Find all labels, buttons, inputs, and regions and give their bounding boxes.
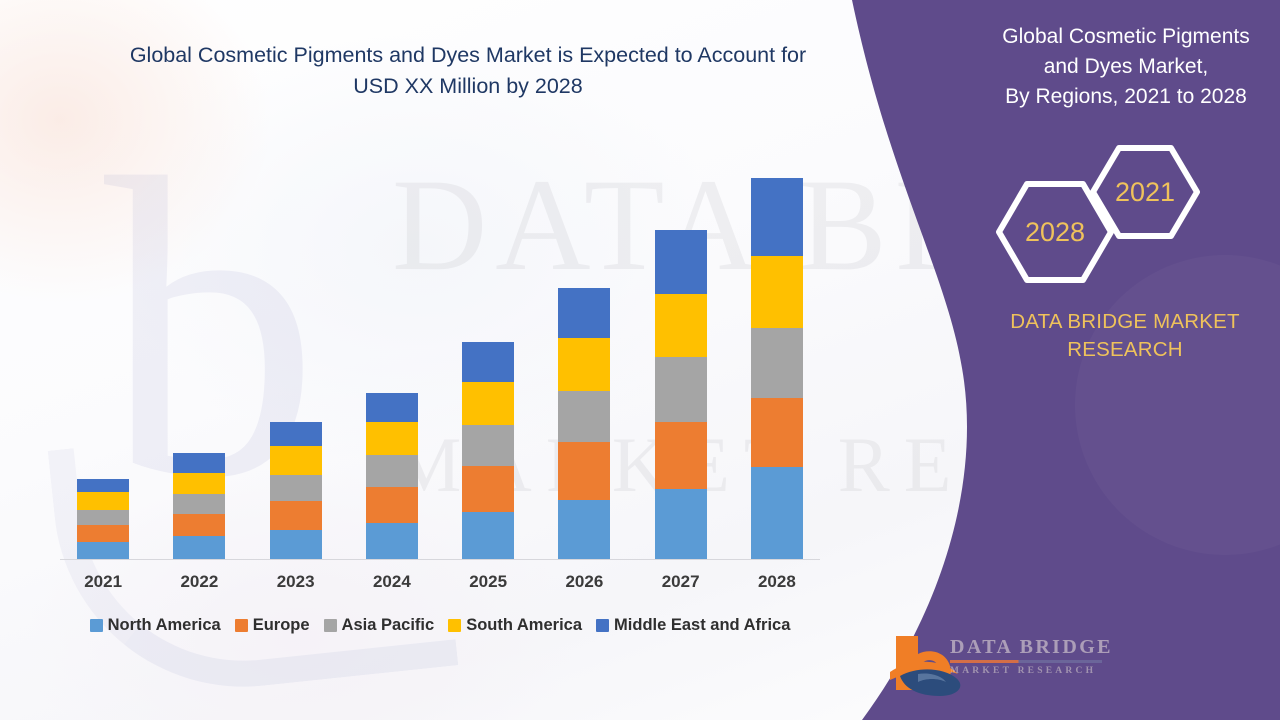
bar-segment-north-america[interactable] bbox=[366, 523, 418, 559]
legend-item-middle-east-and-africa[interactable]: Middle East and Africa bbox=[596, 616, 790, 635]
bar-segment-south-america[interactable] bbox=[270, 446, 322, 475]
bar-segment-asia-pacific[interactable] bbox=[270, 475, 322, 501]
logo-sub-text: MARKET RESEARCH bbox=[950, 666, 1113, 676]
stacked-bar[interactable] bbox=[173, 453, 225, 559]
bar-segment-asia-pacific[interactable] bbox=[655, 357, 707, 422]
bar-segment-asia-pacific[interactable] bbox=[366, 455, 418, 487]
bar-segment-europe[interactable] bbox=[270, 501, 322, 531]
bar-segment-europe[interactable] bbox=[558, 442, 610, 499]
bar-segment-middle-east-and-africa[interactable] bbox=[270, 422, 322, 447]
bar-segment-middle-east-and-africa[interactable] bbox=[462, 342, 514, 382]
stacked-bar[interactable] bbox=[77, 479, 129, 559]
legend-item-north-america[interactable]: North America bbox=[90, 616, 221, 635]
panel-title-line: Global Cosmetic Pigments and Dyes Market… bbox=[1002, 25, 1249, 78]
bar-column-2027[interactable] bbox=[633, 150, 729, 559]
stacked-bar[interactable] bbox=[558, 288, 610, 559]
bar-segment-south-america[interactable] bbox=[77, 492, 129, 509]
bar-column-2028[interactable] bbox=[729, 150, 825, 559]
x-tick-2027: 2027 bbox=[633, 572, 729, 592]
bar-segment-north-america[interactable] bbox=[655, 489, 707, 559]
stacked-bar[interactable] bbox=[462, 342, 514, 559]
x-tick-2028: 2028 bbox=[729, 572, 825, 592]
bar-segment-europe[interactable] bbox=[366, 487, 418, 523]
legend-item-south-america[interactable]: South America bbox=[448, 616, 582, 635]
stacked-bar[interactable] bbox=[751, 178, 803, 559]
bar-segment-south-america[interactable] bbox=[751, 256, 803, 329]
bar-segment-south-america[interactable] bbox=[366, 422, 418, 456]
bar-segment-asia-pacific[interactable] bbox=[173, 494, 225, 513]
bar-segment-north-america[interactable] bbox=[173, 536, 225, 559]
right-purple-panel: Global Cosmetic Pigments and Dyes Market… bbox=[830, 0, 1280, 720]
stacked-bar[interactable] bbox=[655, 230, 707, 559]
hexagon-2021-label: 2021 bbox=[1115, 177, 1175, 207]
legend-item-asia-pacific[interactable]: Asia Pacific bbox=[324, 616, 435, 635]
bar-segment-north-america[interactable] bbox=[558, 500, 610, 559]
x-tick-2026: 2026 bbox=[536, 572, 632, 592]
legend-label: Europe bbox=[253, 616, 310, 635]
logo-divider bbox=[950, 660, 1102, 663]
legend-label: Asia Pacific bbox=[342, 616, 435, 635]
x-tick-2022: 2022 bbox=[151, 572, 247, 592]
legend-swatch bbox=[448, 619, 461, 632]
chart-plot-area bbox=[55, 150, 825, 560]
bar-segment-asia-pacific[interactable] bbox=[751, 328, 803, 398]
x-tick-2025: 2025 bbox=[440, 572, 536, 592]
bar-segment-asia-pacific[interactable] bbox=[558, 391, 610, 442]
legend-item-europe[interactable]: Europe bbox=[235, 616, 310, 635]
legend-label: North America bbox=[108, 616, 221, 635]
x-axis-tick-labels: 20212022202320242025202620272028 bbox=[55, 572, 825, 592]
bar-group bbox=[55, 150, 825, 559]
company-logo: DATA BRIDGE MARKET RESEARCH bbox=[888, 628, 1118, 698]
slide-canvas: b DATA BRIDGE MARKET RESEARCH Global Cos… bbox=[0, 0, 1280, 720]
x-tick-2021: 2021 bbox=[55, 572, 151, 592]
hexagon-2028-label: 2028 bbox=[1025, 217, 1085, 247]
legend-swatch bbox=[235, 619, 248, 632]
legend-swatch bbox=[596, 619, 609, 632]
bar-segment-south-america[interactable] bbox=[558, 338, 610, 391]
chart-title: Global Cosmetic Pigments and Dyes Market… bbox=[108, 40, 828, 102]
bar-segment-asia-pacific[interactable] bbox=[77, 510, 129, 525]
bar-segment-middle-east-and-africa[interactable] bbox=[173, 453, 225, 472]
bar-segment-europe[interactable] bbox=[173, 514, 225, 537]
bar-column-2024[interactable] bbox=[344, 150, 440, 559]
bar-column-2026[interactable] bbox=[536, 150, 632, 559]
bar-segment-north-america[interactable] bbox=[462, 512, 514, 559]
bar-segment-south-america[interactable] bbox=[462, 382, 514, 425]
bar-column-2022[interactable] bbox=[151, 150, 247, 559]
x-tick-2024: 2024 bbox=[344, 572, 440, 592]
x-axis-line bbox=[60, 559, 820, 560]
bar-column-2023[interactable] bbox=[248, 150, 344, 559]
x-tick-2023: 2023 bbox=[248, 572, 344, 592]
panel-content: Global Cosmetic Pigments and Dyes Market… bbox=[830, 0, 1280, 720]
stacked-bar[interactable] bbox=[270, 422, 322, 559]
bar-segment-north-america[interactable] bbox=[77, 542, 129, 559]
bar-segment-north-america[interactable] bbox=[751, 467, 803, 559]
bar-segment-europe[interactable] bbox=[77, 525, 129, 541]
bar-segment-middle-east-and-africa[interactable] bbox=[366, 393, 418, 422]
bar-segment-middle-east-and-africa[interactable] bbox=[77, 479, 129, 492]
bar-segment-north-america[interactable] bbox=[270, 530, 322, 559]
bar-segment-asia-pacific[interactable] bbox=[462, 425, 514, 466]
bar-segment-europe[interactable] bbox=[462, 466, 514, 512]
bar-segment-middle-east-and-africa[interactable] bbox=[655, 230, 707, 294]
logo-text-block: DATA BRIDGE MARKET RESEARCH bbox=[950, 636, 1113, 676]
legend-swatch bbox=[324, 619, 337, 632]
panel-title: Global Cosmetic Pigments and Dyes Market… bbox=[990, 22, 1262, 111]
legend-label: Middle East and Africa bbox=[614, 616, 790, 635]
bar-segment-middle-east-and-africa[interactable] bbox=[558, 288, 610, 337]
bar-segment-middle-east-and-africa[interactable] bbox=[751, 178, 803, 256]
brand-name: DATA BRIDGE MARKET RESEARCH bbox=[980, 308, 1270, 365]
chart-legend: North AmericaEuropeAsia PacificSouth Ame… bbox=[55, 616, 825, 635]
bar-column-2025[interactable] bbox=[440, 150, 536, 559]
stacked-bar-chart bbox=[55, 150, 825, 560]
hexagon-pair: 2028 2021 bbox=[985, 140, 1275, 310]
bar-column-2021[interactable] bbox=[55, 150, 151, 559]
bar-segment-south-america[interactable] bbox=[655, 294, 707, 358]
bar-segment-europe[interactable] bbox=[655, 422, 707, 490]
legend-swatch bbox=[90, 619, 103, 632]
legend-label: South America bbox=[466, 616, 582, 635]
bar-segment-europe[interactable] bbox=[751, 398, 803, 467]
panel-title-line: By Regions, 2021 to 2028 bbox=[1005, 85, 1247, 108]
bar-segment-south-america[interactable] bbox=[173, 473, 225, 495]
stacked-bar[interactable] bbox=[366, 393, 418, 559]
logo-main-text: DATA BRIDGE bbox=[950, 636, 1113, 659]
